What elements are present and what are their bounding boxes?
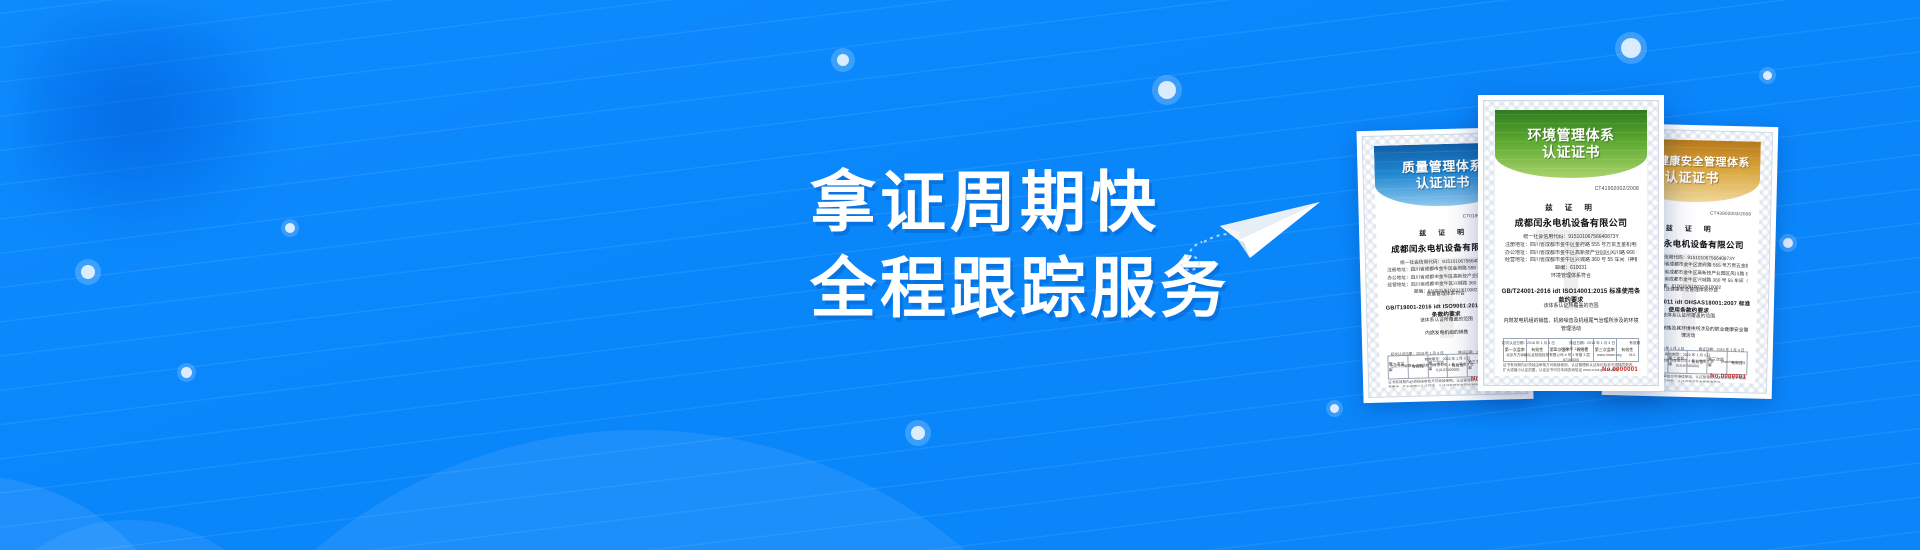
background-circle-small <box>0 520 295 550</box>
certificate-sheet: 环境管理体系 认证证书 CT41902002/2008 兹 证 明 成都闰永电机… <box>1495 110 1647 376</box>
certificate-border: 环境管理体系 认证证书 CT41902002/2008 兹 证 明 成都闰永电机… <box>1483 100 1659 386</box>
red-stamp-icon <box>1612 375 1640 376</box>
decorative-dot <box>837 54 849 66</box>
certificate-scope-label: 该体系认证所覆盖的范围 <box>1495 302 1647 309</box>
decorative-dot <box>1621 38 1641 58</box>
decorative-dot <box>285 223 295 233</box>
paper-plane-icon <box>1178 180 1328 275</box>
certificate-issuer: 北京东方纵横认证检验检测有限公司 4 号 1 号楼 3 层 www.hncec.… <box>1501 353 1641 365</box>
decorative-dot <box>81 265 95 279</box>
certificate-info-row: 经营地址：四川省成都市金牛区兴城路 360 号 55 车间（神钢备件厂房） <box>1505 257 1637 265</box>
promo-banner: 拿证周期快 全程跟踪服务 质量管理体系 认证证书 <box>0 0 1920 550</box>
decorative-dot <box>1763 71 1772 80</box>
certificate-system-label: 环境管理体系符合 <box>1495 272 1647 279</box>
certificate-info-row: 统一社会信用代码：91510106756640873Y <box>1505 234 1637 242</box>
decorative-dot <box>181 367 192 378</box>
certificates-group: 质量管理体系 认证证书 CT01902001/2008 兹 证 明 成都闰永电机… <box>1360 95 1900 465</box>
certificate-number: CT41902002/2008 <box>1595 186 1639 192</box>
certificate-serial: No.0000001 <box>1710 374 1746 381</box>
certificate-environmental-management[interactable]: 环境管理体系 认证证书 CT41902002/2008 兹 证 明 成都闰永电机… <box>1478 95 1664 391</box>
background-circle-medium <box>0 475 200 550</box>
blue-glow-blob <box>20 10 280 240</box>
decorative-dot <box>911 426 925 440</box>
certificate-scope: 内燃发电机组的销售、机房噪音及机组尾气治理所涉及的环境管理活动 <box>1503 318 1639 333</box>
certificate-footer: 初次认证日期：2018 年 1 月 4 日 换证日期：2018 年 1 月 4 … <box>1501 341 1641 364</box>
decorative-dot <box>1158 81 1176 99</box>
certificate-info-row: 办公地址：四川省成都市金牛区高新技产业园区风川路 666 号西部欧洲大厦 606… <box>1505 250 1637 258</box>
background-circle-large <box>140 430 1140 550</box>
certificate-serial: No.0000001 <box>1602 367 1638 373</box>
certificate-attest-label: 兹 证 明 <box>1495 202 1647 213</box>
certificate-number: CT43902003/2008 <box>1710 210 1751 216</box>
header-watermark <box>1495 110 1647 178</box>
certificate-header-banner: 环境管理体系 认证证书 <box>1495 110 1647 178</box>
certificate-dates: 初次认证日期：2018 年 1 月 4 日 换证日期：2018 年 1 月 4 … <box>1501 341 1641 353</box>
certificate-company-name: 成都闰永电机设备有限公司 <box>1495 216 1647 229</box>
certificate-info-row: 注册地址：四川省成都市金牛区金府路 555 号万贯五金机电城二期 C 区 14 … <box>1505 242 1637 250</box>
decorative-dot <box>1330 404 1339 413</box>
certificate-body-info: 统一社会信用代码：91510106756640873Y 注册地址：四川省成都市金… <box>1505 234 1637 273</box>
